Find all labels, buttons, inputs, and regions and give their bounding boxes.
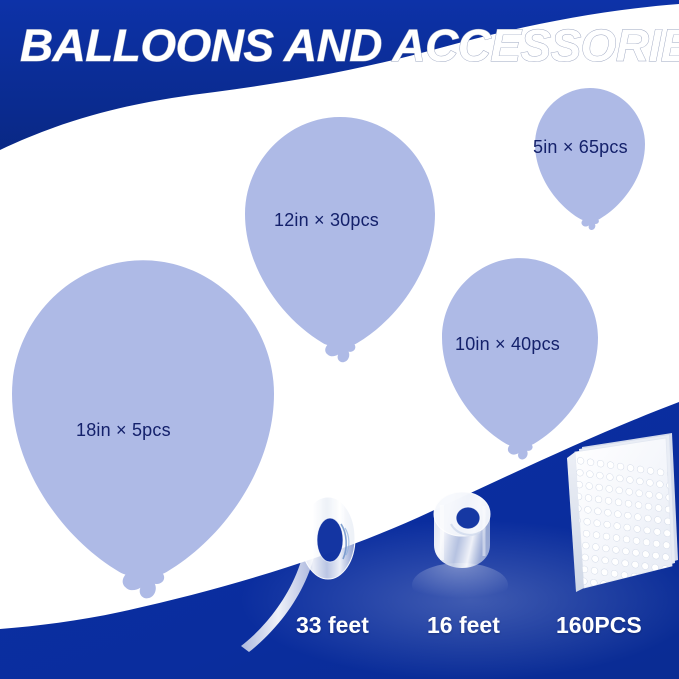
caption-glue-dots-unit: PCS [594,612,641,638]
caption-tape-16-feet: 16 feet [427,612,500,639]
caption-tape-33-feet: 33 feet [296,612,369,639]
balloon-label-10in: 10in × 40pcs [455,334,560,355]
glue-dot-sheet-icon [567,433,678,609]
balloon-label-12in: 12in × 30pcs [274,210,379,231]
caption-glue-dots-number: 160 [556,612,594,638]
caption-glue-dots: 160PCS [556,612,642,639]
product-infographic: 18in × 5pcs 12in × 30pcs 10in × 40pcs 5i… [0,0,679,679]
balloon-label-18in: 18in × 5pcs [76,420,171,441]
tape-roll-icon-wide [412,492,508,607]
accessory-group [0,0,679,679]
balloon-label-5in: 5in × 65pcs [533,137,628,158]
